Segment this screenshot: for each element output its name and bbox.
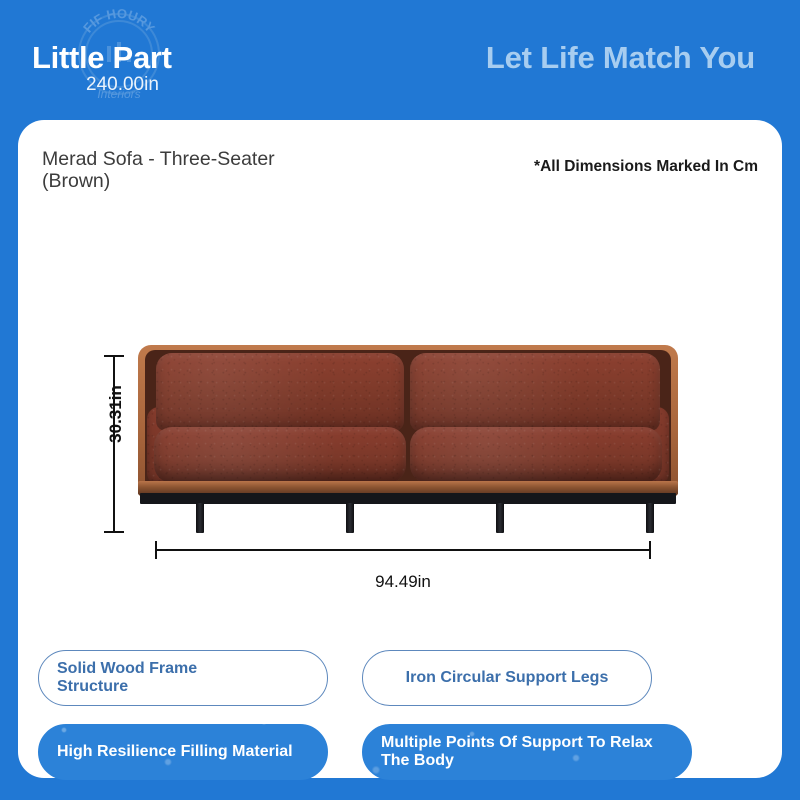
feature-pill-high-resilience-filling[interactable]: High Resilience Filling Material <box>38 724 328 780</box>
fabric-texture <box>410 427 662 483</box>
feature-pill-iron-legs[interactable]: Iron Circular Support Legs <box>362 650 652 706</box>
sofa-leg <box>346 503 354 533</box>
fabric-texture <box>410 353 660 431</box>
sofa-wood-frame <box>138 345 678 497</box>
sofa-graphic <box>138 345 678 525</box>
width-dimension-cap-right <box>649 541 651 559</box>
product-title: Merad Sofa - Three-Seater (Brown) <box>42 148 462 192</box>
sofa-base-plank <box>138 481 678 495</box>
sofa-back-cushion-right <box>410 353 660 431</box>
feature-pill-label: Solid Wood Frame Structure <box>57 660 309 696</box>
product-spec-page: FIF HOURY Interiors Little Part 240.00in… <box>0 0 800 800</box>
sofa-steel-rail <box>140 493 676 504</box>
fabric-texture <box>154 427 406 483</box>
brand-title: Little Part <box>32 40 172 76</box>
header-slogan: Let Life Match You <box>486 40 755 76</box>
sofa-frame-recess <box>145 350 671 490</box>
fabric-texture <box>156 353 404 431</box>
feature-pill-label: Iron Circular Support Legs <box>406 669 609 687</box>
fabric-texture <box>643 407 669 485</box>
dimension-units-note: *All Dimensions Marked In Cm <box>534 158 758 176</box>
sofa-leg <box>496 503 504 533</box>
height-dimension-label: 30.31in <box>106 374 126 454</box>
sofa-leg <box>646 503 654 533</box>
sofa-seat-cushion-right <box>410 427 662 483</box>
feature-pill-label: Multiple Points Of Support To Relax The … <box>381 734 673 770</box>
sofa-arm-left <box>147 407 173 485</box>
width-dimension-cap-left <box>155 541 157 559</box>
width-dimension-line <box>155 549 651 551</box>
sofa-arm-right <box>643 407 669 485</box>
height-dimension-cap-bottom <box>104 531 124 533</box>
sofa-seat-cushion-left <box>154 427 406 483</box>
feature-pill-multiple-support-points[interactable]: Multiple Points Of Support To Relax The … <box>362 724 692 780</box>
sofa-leg <box>196 503 204 533</box>
sofa-back-cushion-left <box>156 353 404 431</box>
feature-pill-label: High Resilience Filling Material <box>57 743 309 761</box>
svg-text:FIF HOURY: FIF HOURY <box>80 6 158 36</box>
brand-subtitle-dimension: 240.00in <box>86 74 159 96</box>
height-dimension-cap-top <box>104 355 124 357</box>
width-dimension-label: 94.49in <box>155 572 651 592</box>
feature-pill-solid-wood-frame[interactable]: Solid Wood Frame Structure <box>38 650 328 706</box>
fabric-texture <box>147 407 173 485</box>
